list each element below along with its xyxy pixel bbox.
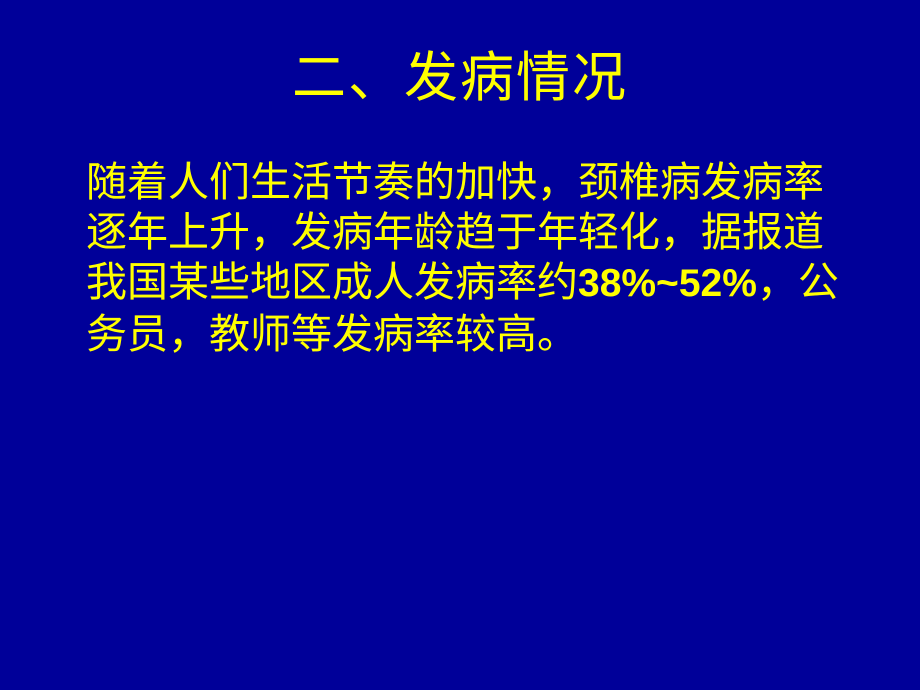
body-line-3-text: 我国某些地区成人发病率约 [86,259,578,305]
slide-body-text: 随着人们生活节奏的加快，颈椎病发病率 逐年上升，发病年龄趋于年轻化，据报道 我国… [86,157,876,359]
incidence-rate-value: 38%~52% [578,262,757,305]
body-line-1: 随着人们生活节奏的加快，颈椎病发病率 [86,157,876,207]
body-line-2: 逐年上升，发病年龄趋于年轻化，据报道 [86,207,876,257]
presentation-slide: 二、发病情况 随着人们生活节奏的加快，颈椎病发病率 逐年上升，发病年龄趋于年轻化… [0,0,920,690]
body-line-3: 我国某些地区成人发病率约38%~52%，公 [86,257,876,309]
body-line-3-suffix: ，公 [757,259,839,305]
body-line-4: 务员，教师等发病率较高。 [86,309,876,359]
page-title: 二、发病情况 [0,47,920,109]
